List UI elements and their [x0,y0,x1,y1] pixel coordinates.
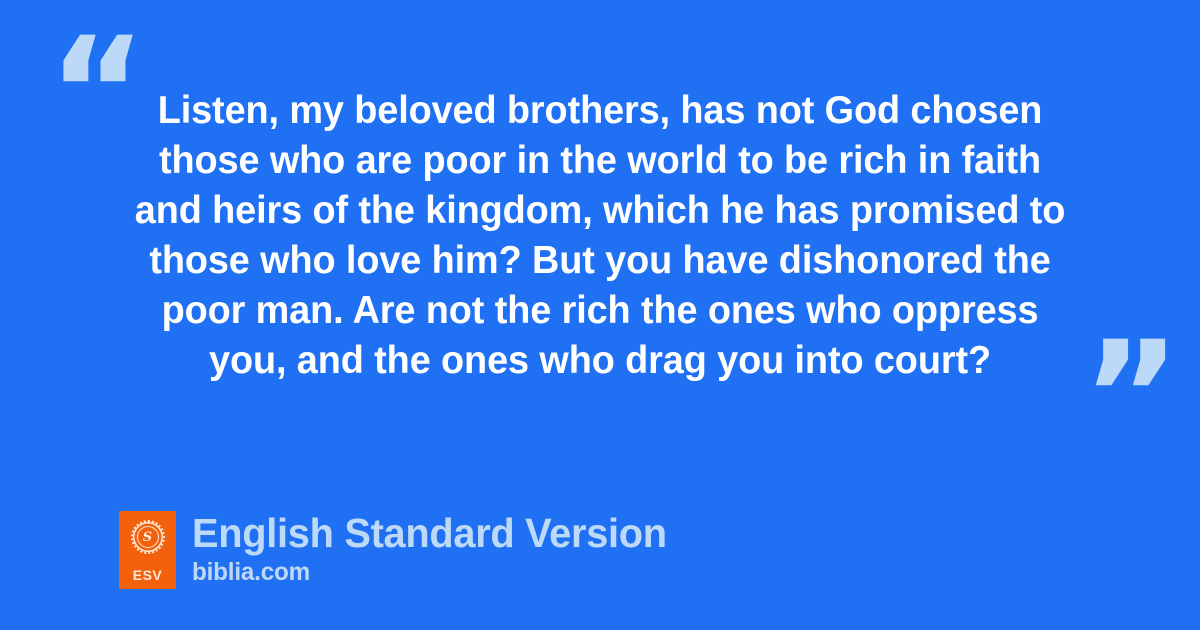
quote-line: poor man. Are not the rich the ones who … [115,286,1085,336]
quote-line: and heirs of the kingdom, which he has p… [115,186,1085,236]
site-name: biblia.com [192,558,667,586]
esv-abbreviation-label: ESV [133,568,163,582]
quote-line: Listen, my beloved brothers, has not God… [115,86,1085,136]
close-quote-icon: ” [1082,322,1179,472]
esv-logo-icon: Ѕ ESV [119,511,176,589]
quote-card: “ Listen, my beloved brothers, has not G… [0,0,1200,630]
quote-line: those who love him? But you have dishono… [115,236,1085,286]
esv-seal-inner-ring: Ѕ [137,526,159,548]
bible-version-name: English Standard Version [192,511,667,555]
esv-seal-monogram: Ѕ [143,531,152,544]
quote-text-block: Listen, my beloved brothers, has not God… [100,86,1100,386]
attribution: Ѕ ESV English Standard Version biblia.co… [119,511,681,589]
quote-line: those who are poor in the world to be ri… [115,136,1085,186]
quote-line: you, and the ones who drag you into cour… [115,336,1085,386]
attribution-text: English Standard Version biblia.com [192,511,681,586]
esv-seal-icon: Ѕ [131,520,165,554]
